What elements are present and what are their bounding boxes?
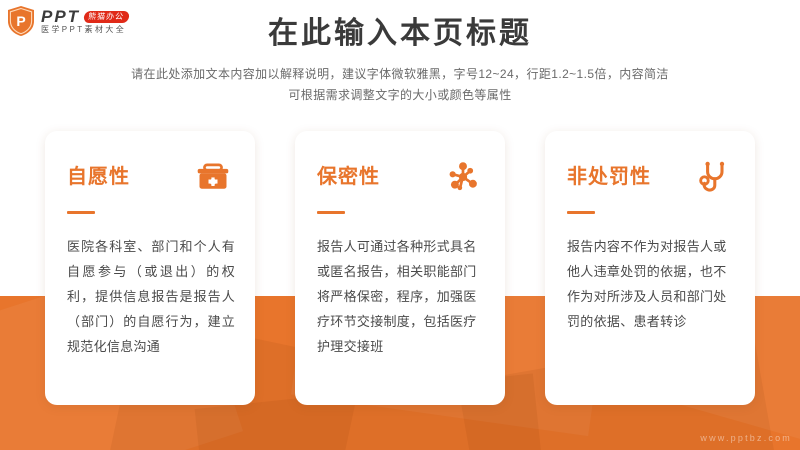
site-watermark: www.pptbz.com xyxy=(700,433,792,443)
card-header: 自愿性 xyxy=(67,159,235,195)
molecule-icon xyxy=(445,159,481,195)
card-title: 非处罚性 xyxy=(567,167,651,187)
feature-card[interactable]: 自愿性 医院各科室、部门和个人有自愿参与（或退出）的权利，提供信息报告是报告人（… xyxy=(45,131,255,405)
card-title: 保密性 xyxy=(317,167,380,187)
card-title: 自愿性 xyxy=(67,167,130,187)
card-divider xyxy=(317,211,345,214)
stethoscope-icon xyxy=(695,159,731,195)
medical-kit-icon xyxy=(195,159,231,195)
card-header: 非处罚性 xyxy=(567,159,735,195)
card-header: 保密性 xyxy=(317,159,485,195)
subtitle-line-1: 请在此处添加文本内容加以解释说明，建议字体微软雅黑，字号12~24，行距1.2~… xyxy=(0,64,800,85)
feature-card[interactable]: 非处罚性 报告内容不作为对报告人或他人违章处罚的依据，也不作为对所涉及人员和部门… xyxy=(545,131,755,405)
subtitle-line-2: 可根据需求调整文字的大小或颜色等属性 xyxy=(0,85,800,106)
card-divider xyxy=(567,211,595,214)
card-body-text: 医院各科室、部门和个人有自愿参与（或退出）的权利，提供信息报告是报告人（部门）的… xyxy=(67,235,235,360)
feature-card[interactable]: 保密性 报告人可通过各种形式具名或匿名报告，相关职 xyxy=(295,131,505,405)
page-title: 在此输入本页标题 xyxy=(0,14,800,55)
card-divider xyxy=(67,211,95,214)
header: 在此输入本页标题 请在此处添加文本内容加以解释说明，建议字体微软雅黑，字号12~… xyxy=(0,14,800,106)
card-body-text: 报告人可通过各种形式具名或匿名报告，相关职能部门将严格保密，程序，加强医疗环节交… xyxy=(317,235,485,360)
page-subtitle: 请在此处添加文本内容加以解释说明，建议字体微软雅黑，字号12~24，行距1.2~… xyxy=(0,64,800,106)
feature-card-group: 自愿性 医院各科室、部门和个人有自愿参与（或退出）的权利，提供信息报告是报告人（… xyxy=(45,131,755,405)
card-body-text: 报告内容不作为对报告人或他人违章处罚的依据，也不作为对所涉及人员和部门处罚的依据… xyxy=(567,235,735,335)
